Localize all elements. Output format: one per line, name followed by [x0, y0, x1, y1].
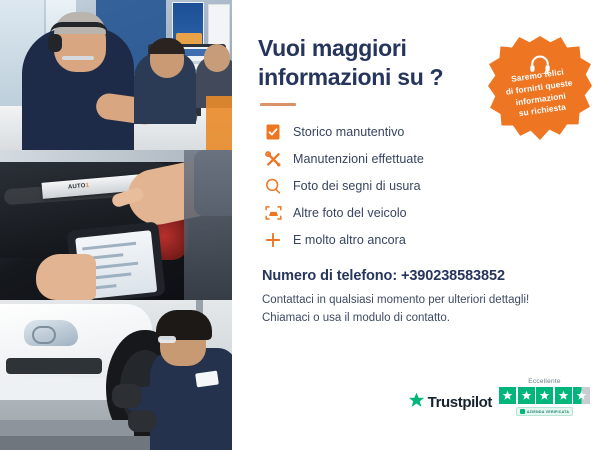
trustpilot-brand-name: Trustpilot — [428, 394, 492, 411]
contact-line-1: Contattaci in qualsiasi momento per ulte… — [262, 292, 582, 310]
trustpilot-rating-label: Eccellente — [528, 378, 561, 385]
star-full — [555, 387, 572, 404]
list-item-label: Foto dei segni di usura — [293, 179, 421, 193]
tools-wrench-screwdriver-icon — [262, 149, 284, 169]
magnifier-icon — [262, 176, 284, 196]
car-focus-frame-icon — [262, 203, 284, 223]
star-full — [518, 387, 535, 404]
info-request-card: AUTO1 — [0, 0, 600, 450]
trustpilot-rating-block: Eccellente — [499, 378, 590, 416]
list-item-label: E molto altro ancora — [293, 233, 406, 247]
list-item: Foto dei segni di usura — [262, 173, 582, 200]
list-item-label: Storico manutentivo — [293, 125, 404, 139]
trustpilot-star-icon — [408, 392, 425, 413]
trustpilot-logo: Trustpilot — [408, 392, 492, 416]
list-item: E molto altro ancora — [262, 227, 582, 254]
list-item: Altre foto del veicolo — [262, 200, 582, 227]
trustpilot-widget[interactable]: Trustpilot Eccellente — [408, 378, 590, 416]
list-item-label: Manutenzioni effettuate — [293, 152, 424, 166]
verified-label: AZIENDA VERIFICATA — [527, 410, 569, 414]
star-full — [536, 387, 553, 404]
verified-company-badge: AZIENDA VERIFICATA — [516, 407, 573, 416]
contact-line-2: Chiamaci o usa il modulo di contatto. — [262, 310, 582, 328]
contact-instructions: Contattaci in qualsiasi momento per ulte… — [262, 292, 582, 328]
phone-number-heading[interactable]: Numero di telefono: +390238583852 — [262, 268, 582, 284]
list-item: Manutenzioni effettuate — [262, 146, 582, 173]
list-item-label: Altre foto del veicolo — [293, 206, 407, 220]
call-center-agents-photo — [0, 0, 232, 150]
content-panel: Vuoi maggiori informazioni su ? Storico … — [232, 0, 600, 450]
headset-worn — [50, 22, 108, 34]
status-badge: Saremo felici di fornirti queste informa… — [488, 36, 592, 140]
trustpilot-stars — [499, 387, 590, 404]
title-underline-rule — [260, 103, 296, 106]
mechanic-wheel-inspection-photo — [0, 300, 232, 450]
photo-strip: AUTO1 — [0, 0, 232, 450]
plus-icon — [262, 230, 284, 250]
verified-check-icon — [520, 409, 525, 414]
checklist-document-icon — [262, 122, 284, 142]
star-half — [573, 387, 590, 404]
star-full — [499, 387, 516, 404]
vehicle-inspection-ruler-tablet-photo: AUTO1 — [0, 150, 232, 300]
